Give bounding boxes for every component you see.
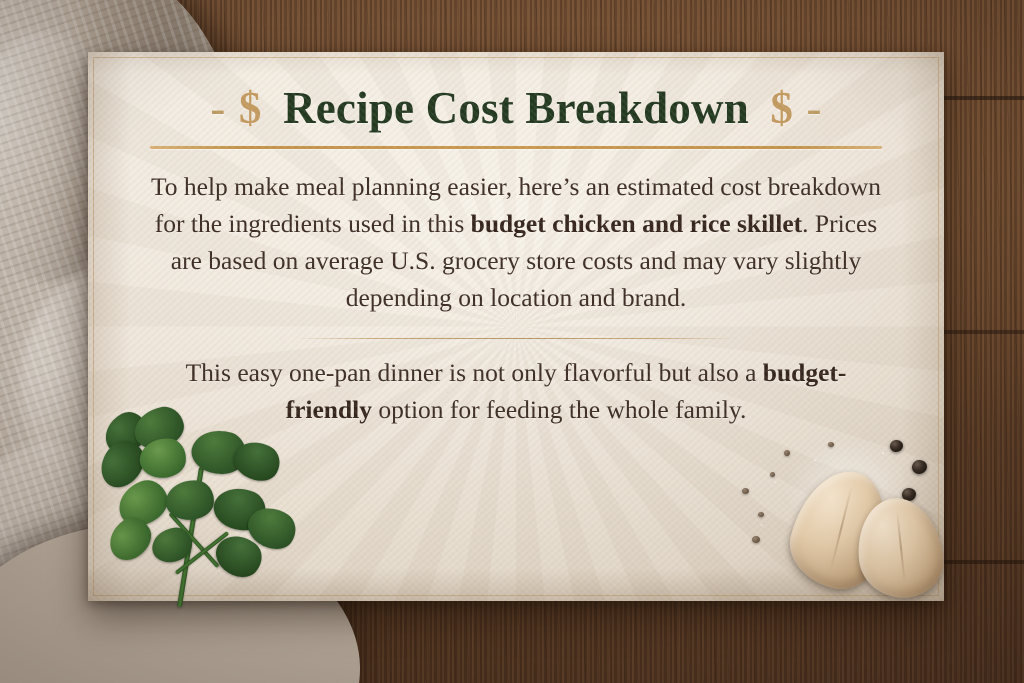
- body-text: This easy one-pan dinner is not only fla…: [186, 358, 763, 387]
- salt-grain: [742, 488, 749, 494]
- title-text: Recipe Cost Breakdown: [273, 83, 759, 133]
- salt-grain: [758, 512, 764, 517]
- salt-grain: [828, 442, 834, 447]
- paragraph-divider: [296, 338, 736, 339]
- paragraph-intro: To help make meal planning easier, here’…: [150, 134, 882, 316]
- dollar-icon-right: $: [770, 83, 793, 133]
- spice-arrangement: [736, 432, 951, 608]
- salt-grain: [752, 536, 760, 543]
- title-dash-right: -: [805, 83, 824, 133]
- salt-grain: [770, 472, 775, 477]
- page-title: - $ Recipe Cost Breakdown $ -: [150, 52, 882, 134]
- title-divider: [150, 146, 882, 149]
- parsley-leaf: [165, 478, 216, 521]
- garlic-ridge: [830, 485, 853, 570]
- garlic-ridge: [896, 510, 906, 584]
- title-dash-left: -: [208, 83, 227, 133]
- body-text: option for feeding the whole family.: [372, 395, 746, 424]
- salt-grain: [784, 450, 790, 456]
- emphasis-text: budget chicken and rice skillet: [471, 209, 803, 238]
- recipe-card-scene: - $ Recipe Cost Breakdown $ - To help ma…: [0, 0, 1024, 683]
- dollar-icon-left: $: [239, 83, 262, 133]
- parsley-sprig: [96, 408, 306, 608]
